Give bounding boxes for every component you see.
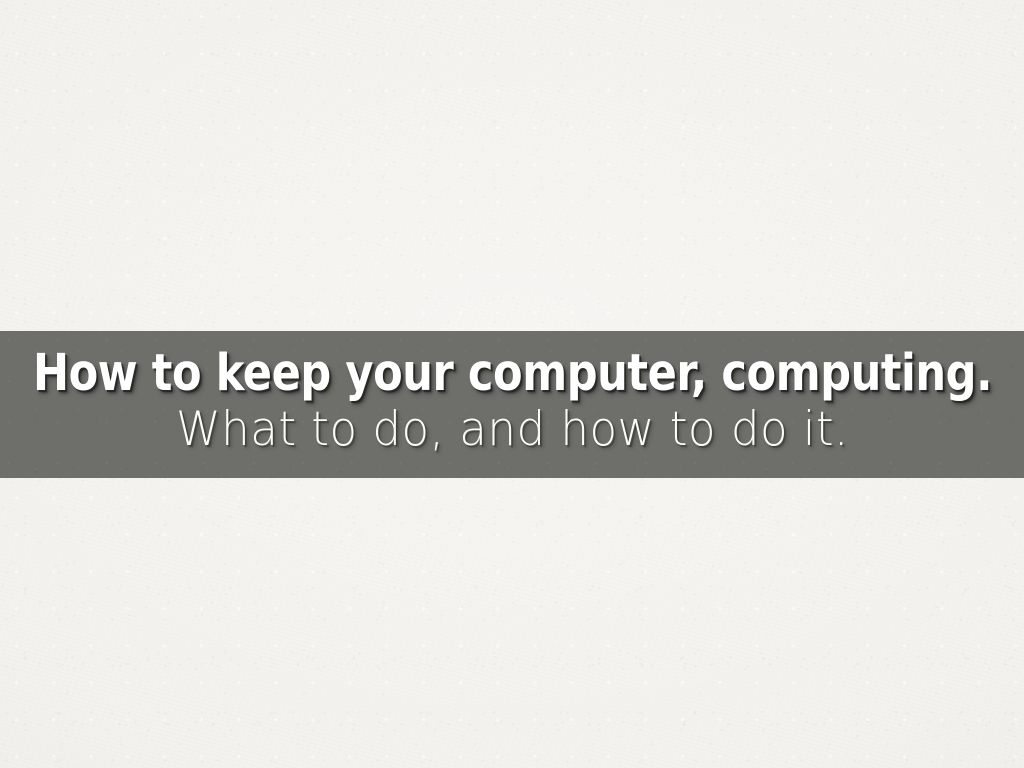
slide-title: How to keep your computer, computing.	[32, 347, 991, 400]
title-banner: How to keep your computer, computing. Wh…	[0, 331, 1024, 478]
slide-canvas: How to keep your computer, computing. Wh…	[0, 0, 1024, 768]
slide-subtitle: What to do, and how to do it.	[176, 404, 849, 456]
